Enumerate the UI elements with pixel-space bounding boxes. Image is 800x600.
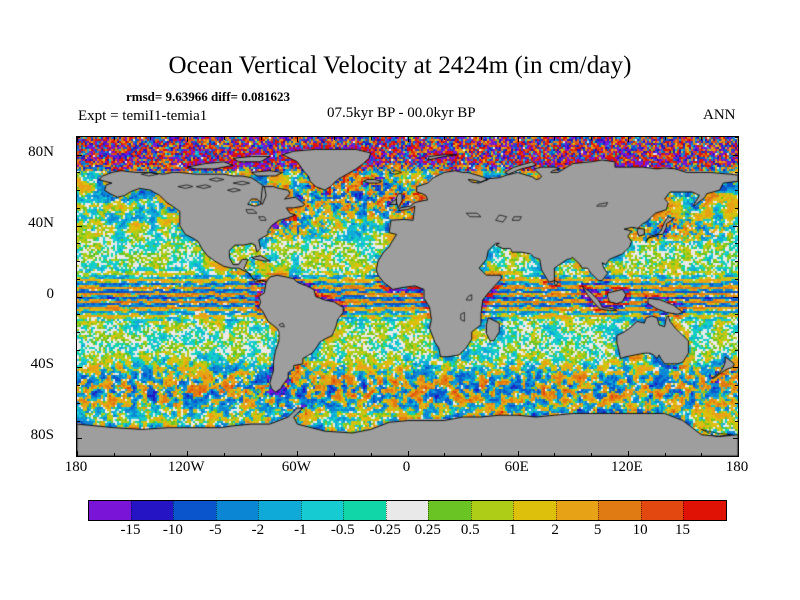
- y-axis-tick: [733, 297, 739, 298]
- y-axis-minor-tick: [735, 261, 739, 262]
- y-axis-tick: [733, 438, 739, 439]
- x-axis-minor-tick: [444, 136, 445, 140]
- colorbar-segment-9: [471, 501, 514, 520]
- colorbar-segment-2: [173, 501, 216, 520]
- y-axis-tick: [733, 367, 739, 368]
- y-axis-minor-tick: [76, 243, 80, 244]
- x-axis-minor-tick: [701, 453, 702, 457]
- x-axis-label-60W: 60W: [256, 459, 336, 476]
- x-axis-minor-tick: [665, 453, 666, 457]
- x-axis-minor-tick: [701, 136, 702, 140]
- x-axis-minor-tick: [114, 453, 115, 457]
- x-axis-minor-tick: [114, 136, 115, 140]
- y-axis-minor-tick: [76, 208, 80, 209]
- x-axis-minor-tick: [591, 453, 592, 457]
- x-axis-minor-tick: [261, 453, 262, 457]
- x-axis-label-60E: 60E: [477, 459, 557, 476]
- y-axis-minor-tick: [76, 279, 80, 280]
- statistics-label: rmsd= 9.63966 diff= 0.081623: [126, 89, 290, 105]
- y-axis-minor-tick: [735, 350, 739, 351]
- x-axis-label-0: 0: [367, 459, 447, 476]
- x-axis-label-180: 180: [36, 459, 116, 476]
- x-axis-tick: [408, 136, 409, 142]
- y-axis-minor-tick: [76, 403, 80, 404]
- y-axis-minor-tick: [76, 350, 80, 351]
- colorbar: [88, 500, 727, 521]
- x-axis-minor-tick: [224, 136, 225, 140]
- y-axis-tick: [76, 155, 82, 156]
- colorbar-segment-1: [131, 501, 174, 520]
- x-axis-tick: [187, 136, 188, 142]
- x-axis-minor-tick: [554, 136, 555, 140]
- x-axis-label-120W: 120W: [146, 459, 226, 476]
- y-axis-tick: [76, 438, 82, 439]
- y-axis-minor-tick: [735, 279, 739, 280]
- x-axis-label-180: 180: [697, 459, 777, 476]
- y-axis-minor-tick: [735, 172, 739, 173]
- y-axis-tick: [733, 226, 739, 227]
- y-axis-minor-tick: [76, 190, 80, 191]
- y-axis-minor-tick: [76, 137, 80, 138]
- x-axis-minor-tick: [554, 453, 555, 457]
- page-title: Ocean Vertical Velocity at 2424m (in cm/…: [0, 52, 800, 80]
- y-axis-label-40S: 40S: [0, 356, 54, 373]
- x-axis-label-120E: 120E: [587, 459, 667, 476]
- colorbar-segment-0: [89, 501, 131, 520]
- map-plot-area: [76, 136, 739, 457]
- x-axis-tick: [518, 451, 519, 457]
- x-axis-minor-tick: [481, 136, 482, 140]
- y-axis-minor-tick: [735, 190, 739, 191]
- colorbar-segment-13: [641, 501, 684, 520]
- x-axis-tick: [408, 451, 409, 457]
- x-axis-minor-tick: [665, 136, 666, 140]
- x-axis-minor-tick: [444, 453, 445, 457]
- colorbar-segment-11: [556, 501, 599, 520]
- y-axis-minor-tick: [735, 332, 739, 333]
- y-axis-label-80N: 80N: [0, 144, 54, 161]
- colorbar-segment-12: [598, 501, 641, 520]
- y-axis-minor-tick: [76, 456, 80, 457]
- x-axis-tick: [297, 451, 298, 457]
- x-axis-tick: [297, 136, 298, 142]
- y-axis-minor-tick: [735, 314, 739, 315]
- x-axis-minor-tick: [334, 136, 335, 140]
- x-axis-minor-tick: [150, 136, 151, 140]
- colorbar-segment-8: [428, 501, 471, 520]
- x-axis-minor-tick: [224, 453, 225, 457]
- x-axis-minor-tick: [334, 453, 335, 457]
- colorbar-segment-3: [216, 501, 259, 520]
- y-axis-minor-tick: [735, 243, 739, 244]
- x-axis-minor-tick: [261, 136, 262, 140]
- x-axis-tick: [628, 451, 629, 457]
- y-axis-tick: [733, 155, 739, 156]
- colorbar-segment-4: [258, 501, 301, 520]
- colorbar-segment-7: [386, 501, 429, 520]
- y-axis-minor-tick: [76, 421, 80, 422]
- y-axis-label-0: 0: [0, 286, 54, 303]
- y-axis-minor-tick: [735, 385, 739, 386]
- y-axis-minor-tick: [735, 421, 739, 422]
- colorbar-segment-10: [513, 501, 556, 520]
- colorbar-segment-14: [683, 501, 726, 520]
- x-axis-minor-tick: [371, 453, 372, 457]
- y-axis-minor-tick: [735, 403, 739, 404]
- x-axis-minor-tick: [591, 136, 592, 140]
- y-axis-minor-tick: [76, 172, 80, 173]
- colorbar-segment-5: [301, 501, 344, 520]
- y-axis-minor-tick: [735, 137, 739, 138]
- y-axis-tick: [76, 367, 82, 368]
- x-axis-minor-tick: [150, 453, 151, 457]
- experiment-label: Expt = temiI1-temia1: [78, 108, 207, 125]
- figure-root: Ocean Vertical Velocity at 2424m (in cm/…: [0, 0, 800, 600]
- x-axis-tick: [518, 136, 519, 142]
- x-axis-minor-tick: [371, 136, 372, 140]
- y-axis-minor-tick: [76, 385, 80, 386]
- season-label: ANN: [703, 107, 736, 124]
- x-axis-tick: [628, 136, 629, 142]
- y-axis-minor-tick: [735, 208, 739, 209]
- x-axis-tick: [187, 451, 188, 457]
- period-label: 07.5kyr BP - 00.0kyr BP: [327, 105, 476, 122]
- y-axis-tick: [76, 297, 82, 298]
- y-axis-label-40N: 40N: [0, 215, 54, 232]
- y-axis-tick: [76, 226, 82, 227]
- y-axis-minor-tick: [735, 456, 739, 457]
- y-axis-minor-tick: [76, 261, 80, 262]
- x-axis-minor-tick: [481, 453, 482, 457]
- colorbar-segment-6: [343, 501, 386, 520]
- map-heatmap-canvas: [77, 137, 738, 456]
- y-axis-label-80S: 80S: [0, 427, 54, 444]
- colorbar-tick-15: 15: [653, 522, 713, 539]
- y-axis-minor-tick: [76, 314, 80, 315]
- y-axis-minor-tick: [76, 332, 80, 333]
